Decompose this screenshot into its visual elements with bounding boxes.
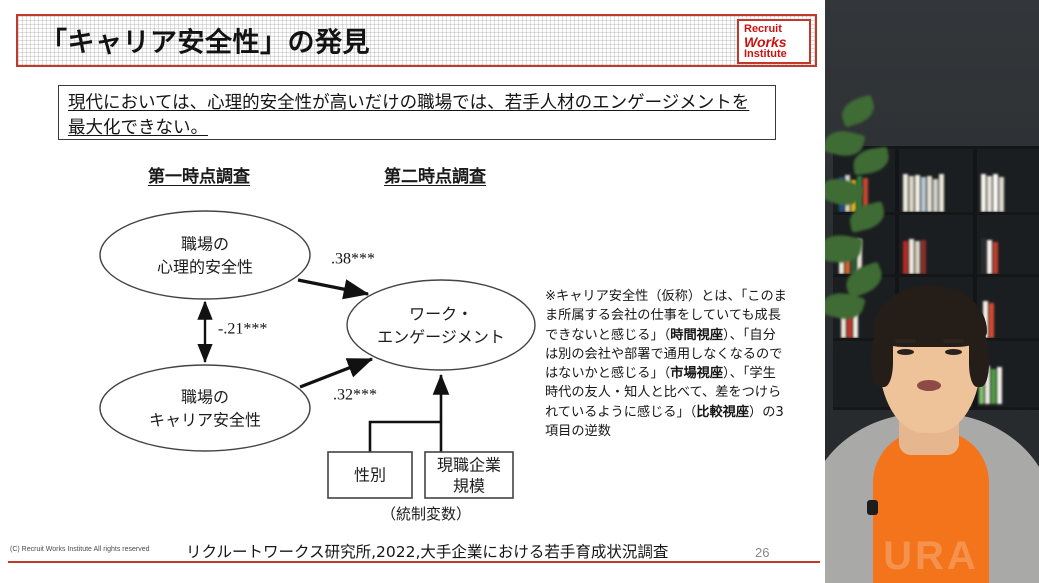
footer-citation: リクルートワークス研究所,2022,大手企業における若手育成状況調査 — [186, 540, 668, 562]
speaker-eyebrow-right — [943, 339, 964, 343]
key-statement-text: 現代においては、心理的安全性が高いだけの職場では、若手人材のエンゲージメントを最… — [68, 93, 749, 138]
box-firm-size-line2: 規模 — [453, 477, 485, 496]
coefficient-psych-to-career: -.21*** — [218, 321, 267, 338]
speaker-video-panel: URA — [825, 0, 1039, 583]
screen-root: 「キャリア安全性」の発見 Recruit Works Institute 現代に… — [0, 0, 1039, 583]
recruit-works-institute-logo: Recruit Works Institute — [737, 19, 811, 64]
tshirt-print-text: URA — [873, 534, 989, 579]
node-work-engagement: ワーク・ エンゲージメント — [347, 280, 535, 370]
speaker-figure: URA — [825, 253, 1039, 583]
node-career-safety: 職場の キャリア安全性 — [100, 365, 310, 451]
slide-title-bar: 「キャリア安全性」の発見 Recruit Works Institute — [16, 14, 817, 67]
box-gender-label: 性別 — [354, 466, 386, 485]
node-psychological-safety: 職場の 心理的安全性 — [100, 211, 310, 299]
career-safety-definition-note: ※キャリア安全性（仮称）とは、「このまま所属する会社の仕事をしていても成長できな… — [545, 287, 787, 441]
speaker-eye-right — [945, 349, 962, 355]
footer-page-number: 26 — [755, 545, 769, 560]
node-career-safety-line2: キャリア安全性 — [149, 411, 261, 430]
presentation-slide: 「キャリア安全性」の発見 Recruit Works Institute 現代に… — [0, 0, 825, 583]
note-bold-market-perspective: 市場視座 — [670, 366, 723, 381]
coefficient-career-to-engagement: .32*** — [333, 387, 377, 404]
connector-gender-to-controls — [370, 422, 441, 452]
speaker-mouth — [917, 380, 941, 391]
coefficient-psych-to-engagement: .38*** — [331, 251, 375, 268]
logo-line-works: Works — [744, 35, 804, 49]
box-firm-size-line1: 現職企業 — [437, 456, 501, 475]
speaker-hair-top — [873, 285, 987, 347]
note-bold-comparison-perspective: 比較視座 — [696, 405, 749, 420]
lapel-microphone — [867, 500, 878, 515]
arrow-career-to-engagement — [300, 359, 372, 387]
logo-line-institute: Institute — [744, 49, 804, 60]
note-bold-time-perspective: 時間視座 — [670, 328, 723, 343]
key-statement-box: 現代においては、心理的安全性が高いだけの職場では、若手人材のエンゲージメントを最… — [58, 85, 776, 140]
speaker-eye-left — [897, 349, 914, 355]
node-work-engagement-line2: エンゲージメント — [377, 328, 505, 347]
node-work-engagement-line1: ワーク・ — [409, 305, 473, 324]
box-firm-size: 現職企業 規模 — [425, 452, 513, 498]
node-career-safety-line1: 職場の — [181, 388, 229, 407]
arrow-psych-to-engagement — [298, 280, 368, 294]
control-variables-caption: （統制変数） — [381, 505, 471, 523]
node-psychological-safety-line1: 職場の — [181, 235, 229, 254]
footer-copyright: (C) Recruit Works Institute All rights r… — [10, 546, 150, 553]
page-title: 「キャリア安全性」の発見 — [40, 20, 370, 59]
footer-divider — [8, 561, 820, 563]
speaker-eyebrow-left — [895, 339, 916, 343]
box-gender: 性別 — [328, 452, 412, 498]
node-psychological-safety-line2: 心理的安全性 — [157, 258, 253, 277]
